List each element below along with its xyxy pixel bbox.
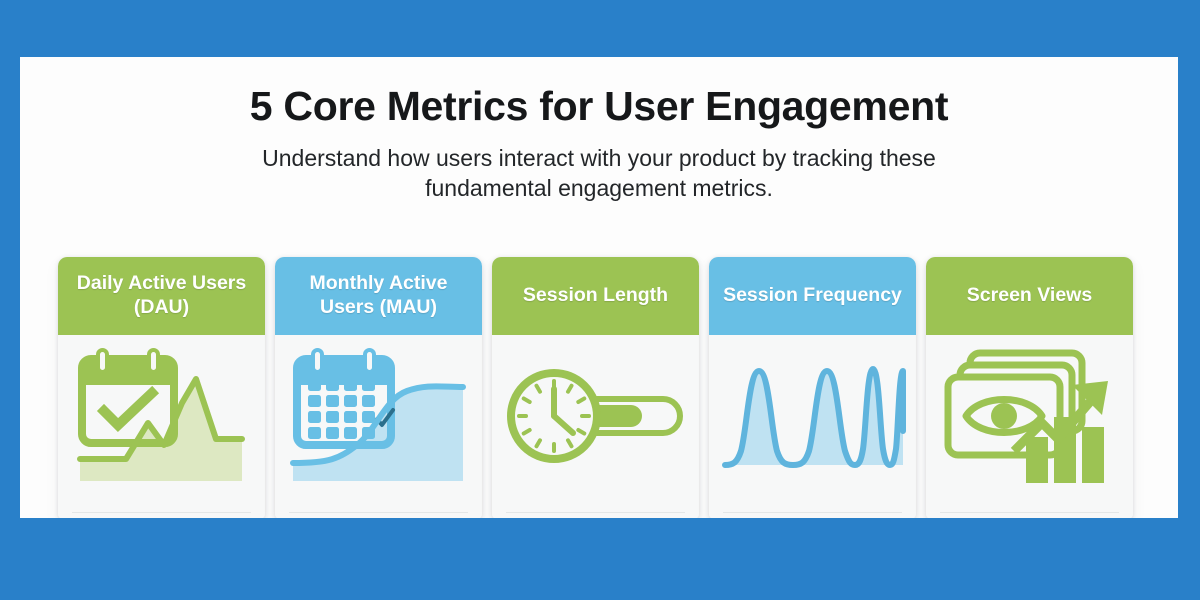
content-panel: 5 Core Metrics for User Engagement Under… (20, 57, 1178, 518)
metric-card-daily-active-users[interactable]: Daily Active Users (DAU) (58, 257, 265, 518)
frequency-wave-icon (715, 341, 910, 491)
card-header-session-length: Session Length (492, 257, 699, 335)
card-header-screen-views: Screen Views (926, 257, 1133, 335)
card-title: Daily Active Users (DAU) (68, 272, 255, 320)
card-divider (723, 512, 902, 513)
card-title: Monthly Active Users (MAU) (285, 272, 472, 320)
card-divider (289, 512, 468, 513)
card-header-daily-active-users: Daily Active Users (DAU) (58, 257, 265, 335)
card-body-screen-views (926, 335, 1133, 518)
card-title: Screen Views (967, 284, 1092, 308)
card-title: Session Length (523, 284, 668, 308)
infographic-root: 5 Core Metrics for User Engagement Under… (0, 0, 1200, 600)
card-header-session-frequency: Session Frequency (709, 257, 916, 335)
metric-card-screen-views[interactable]: Screen Views (926, 257, 1133, 518)
card-body-session-frequency (709, 335, 916, 518)
page-title: 5 Core Metrics for User Engagement (20, 84, 1178, 130)
page-subtitle: Understand how users interact with your … (199, 143, 999, 204)
metric-card-monthly-active-users[interactable]: Monthly Active Users (MAU) (275, 257, 482, 518)
calendar-check-area-chart-icon (64, 341, 259, 491)
calendar-grid-growth-curve-icon (281, 341, 476, 491)
header-block: 5 Core Metrics for User Engagement Under… (20, 84, 1178, 204)
metric-card-session-length[interactable]: Session Length (492, 257, 699, 518)
metric-cards-row: Daily Active Users (DAU) (58, 257, 1143, 518)
card-title: Session Frequency (723, 284, 902, 308)
card-body-daily-active-users (58, 335, 265, 518)
card-divider (72, 512, 251, 513)
card-body-session-length (492, 335, 699, 518)
clock-progress-bar-icon (498, 341, 693, 491)
card-body-monthly-active-users (275, 335, 482, 518)
metric-card-session-frequency[interactable]: Session Frequency (709, 257, 916, 518)
card-divider (506, 512, 685, 513)
screens-eye-growth-bars-icon (932, 341, 1127, 491)
card-header-monthly-active-users: Monthly Active Users (MAU) (275, 257, 482, 335)
card-divider (940, 512, 1119, 513)
